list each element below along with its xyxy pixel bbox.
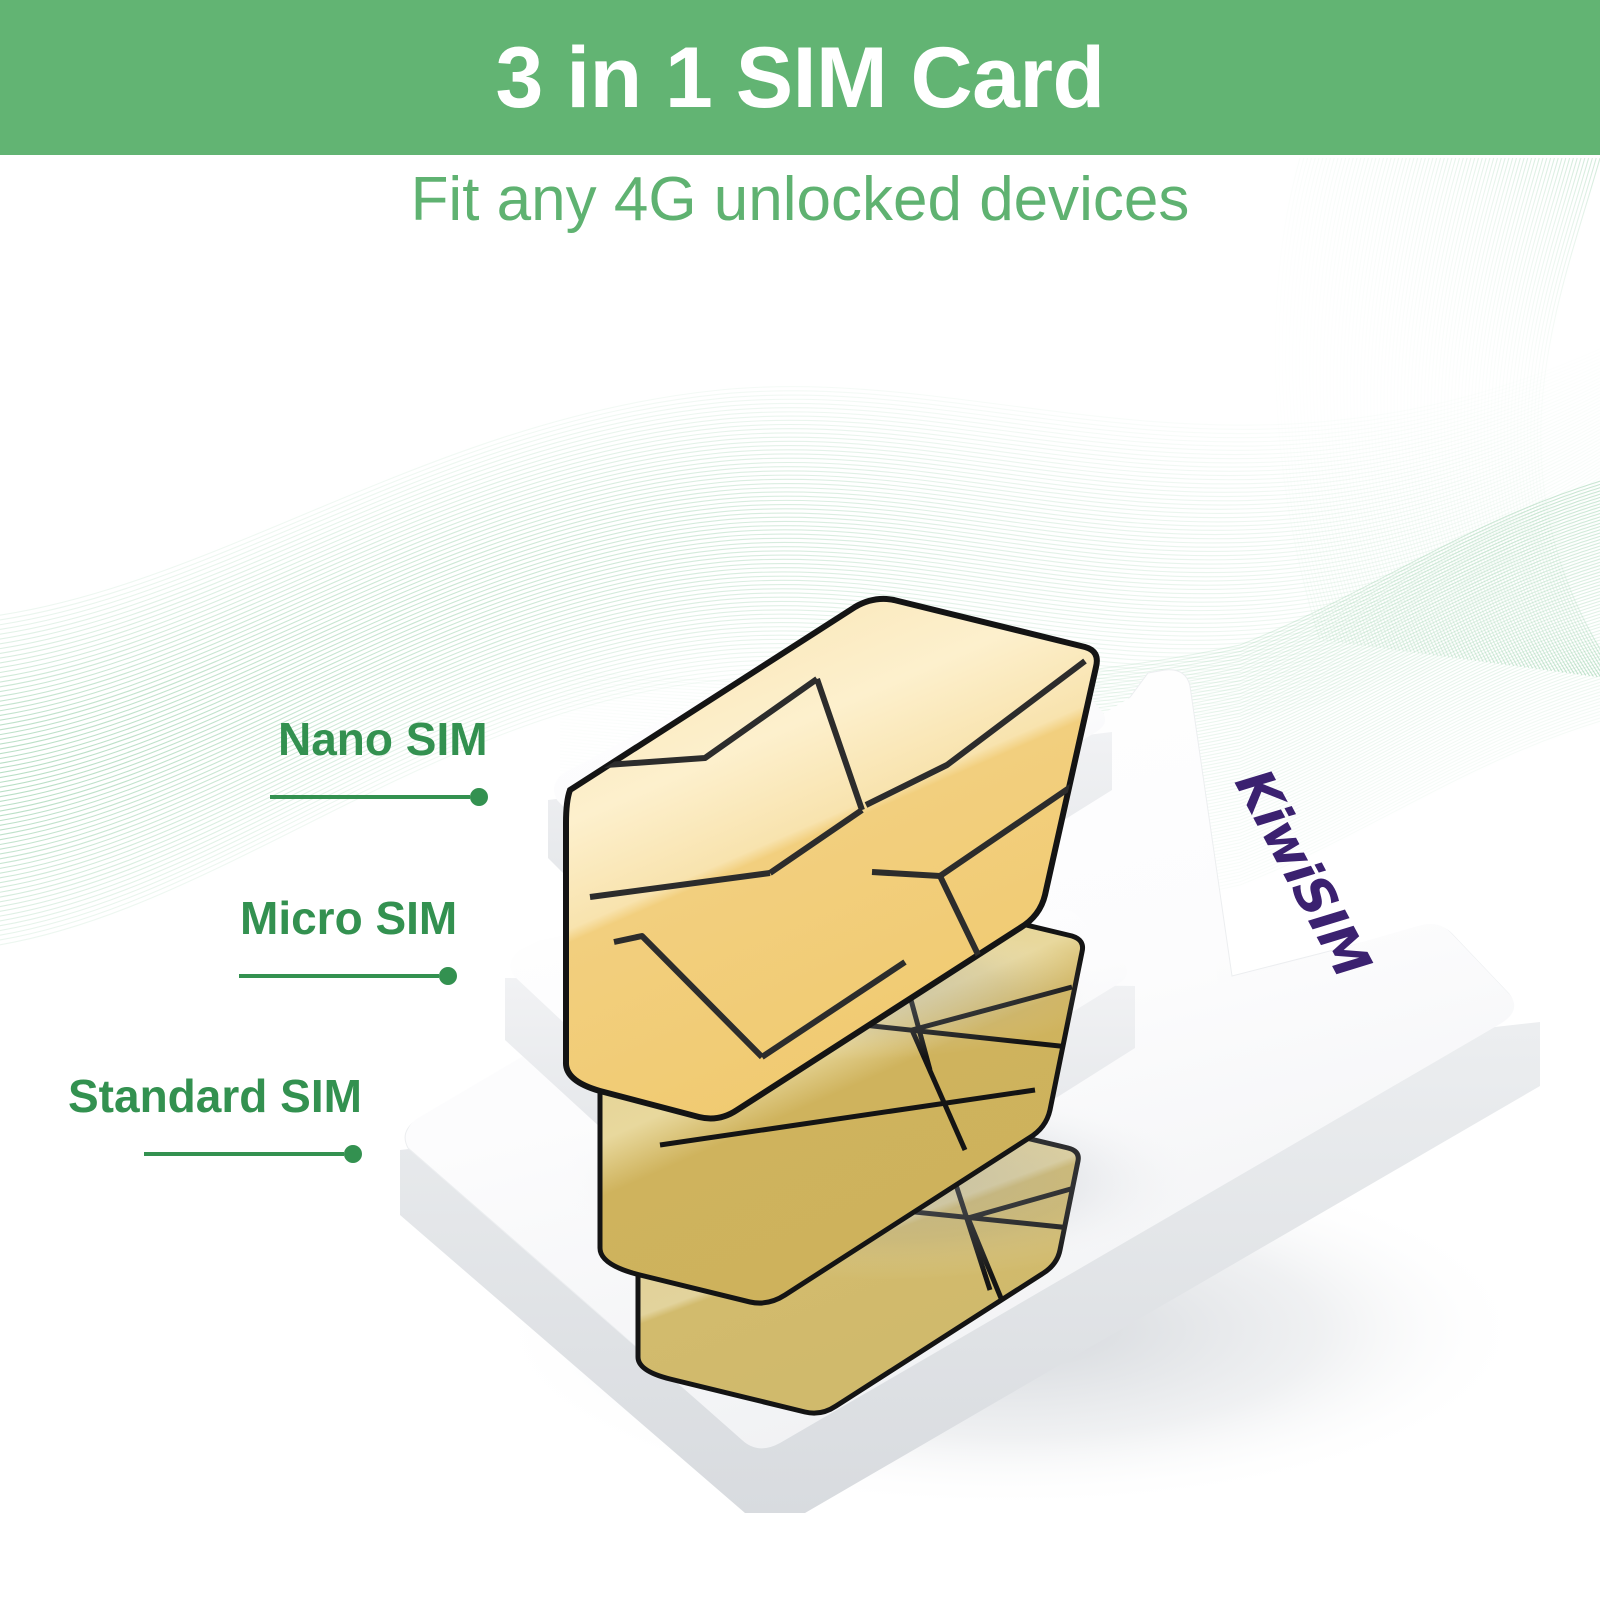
connector-dot-icon xyxy=(344,1145,362,1163)
page-title: 3 in 1 SIM Card xyxy=(0,0,1600,155)
connector-line xyxy=(239,974,439,978)
sim-card-stack-illustration xyxy=(0,0,1600,1600)
page-subtitle: Fit any 4G unlocked devices xyxy=(0,166,1600,234)
callout-micro-sim-connector xyxy=(240,967,457,985)
callout-nano-sim-connector xyxy=(278,788,488,806)
callout-micro-sim: Micro SIM xyxy=(240,895,457,985)
callout-standard-sim: Standard SIM xyxy=(68,1073,362,1163)
callout-micro-sim-label: Micro SIM xyxy=(240,895,457,941)
callout-nano-sim: Nano SIM xyxy=(278,716,488,806)
product-banner: 3 in 1 SIM Card Fit any 4G unlocked devi… xyxy=(0,0,1600,1600)
connector-line xyxy=(270,795,470,799)
callout-standard-sim-connector xyxy=(68,1145,362,1163)
callout-standard-sim-label: Standard SIM xyxy=(68,1073,362,1119)
connector-line xyxy=(144,1152,344,1156)
connector-dot-icon xyxy=(439,967,457,985)
callout-nano-sim-label: Nano SIM xyxy=(278,716,488,762)
connector-dot-icon xyxy=(470,788,488,806)
